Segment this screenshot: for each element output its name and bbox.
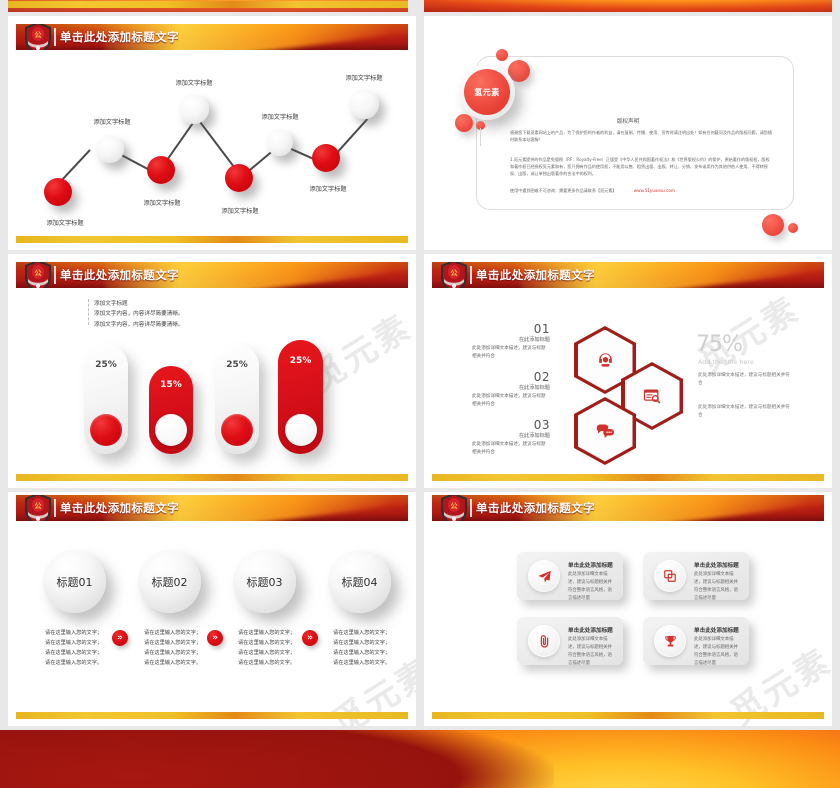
hydrogen-badge: 氢元素 <box>464 69 510 115</box>
card-title: 单击此处添加标题 <box>694 626 739 634</box>
slide-6[interactable]: 公 单击此处添加标题文字 觅元素 单击此处添加标题 此处添加详细文本描述，建议与… <box>424 492 832 726</box>
header-divider <box>54 499 56 517</box>
document-search-icon <box>642 386 662 406</box>
circle-description: 请在这里输入您的文字；请在这里输入您的文字；请在这里输入您的文字；请在这里输入您… <box>238 628 298 669</box>
item-body: 此处添加详细文本描述，建议与标题相关并符合 <box>472 441 550 457</box>
hydrogen-badge-label: 氢元素 <box>474 87 500 98</box>
police-badge-emblem-icon: 公 <box>438 495 470 521</box>
headset-support-icon <box>596 351 615 370</box>
copyright-link[interactable]: www.51yuansu.com <box>634 188 675 193</box>
slide-header-bar: 公 单击此处添加标题文字 <box>432 262 824 288</box>
copyright-title: 版权声明 <box>424 117 832 125</box>
card-body: 此处添加详细文本描述，建议与标题相关并符合整体语言风格，语言描述尽量 <box>568 571 615 603</box>
slide-3-body-1: 添加文字内容，内容详尽简要清晰。 <box>94 309 184 319</box>
paper-plane-icon <box>537 569 552 584</box>
item-body: 此处添加详细文本描述，建议与标题相关并符合 <box>472 345 550 361</box>
slide-header-bar: 公 单击此处添加标题文字 <box>16 262 408 288</box>
slide-4-title: 单击此处添加标题文字 <box>476 267 595 283</box>
pill-value: 15% <box>149 380 193 390</box>
slide-header-bar: 公 单击此处添加标题文字 <box>16 495 408 521</box>
chart-node[interactable] <box>225 164 253 192</box>
slide-thumbnail-grid: 公 单击此处添加标题文字 <box>0 0 840 788</box>
slide-1-title: 单击此处添加标题文字 <box>60 29 179 45</box>
pill-bar[interactable]: 25% <box>215 344 259 454</box>
trophy-icon <box>663 634 678 649</box>
circle-node[interactable]: 标题03 <box>233 550 296 613</box>
layers-copy-icon <box>663 569 677 583</box>
svg-text:公: 公 <box>451 502 458 510</box>
slide-header-bar: 公 单击此处添加标题文字 <box>432 495 824 521</box>
item-subtitle: 在此添加标题 <box>472 384 550 391</box>
numbered-item[interactable]: 01 在此添加标题 此处添加详细文本描述，建议与标题相关并符合 <box>472 322 550 361</box>
numbered-item[interactable]: 03 在此添加标题 此处添加详细文本描述，建议与标题相关并符合 <box>472 418 550 457</box>
card-icon-wrap <box>654 625 686 657</box>
chart-node-label: 添加文字标题 <box>93 117 130 126</box>
card-title: 单击此处添加标题 <box>694 561 739 569</box>
pill-value: 25% <box>278 356 323 366</box>
decor-bubble <box>762 214 784 236</box>
chart-node-label: 添加文字标题 <box>309 184 346 193</box>
police-badge-emblem-icon: 公 <box>22 24 54 50</box>
header-divider <box>54 28 56 46</box>
bottom-banner-gradient <box>0 730 840 788</box>
chart-node[interactable] <box>179 94 209 124</box>
cropped-slide-strip-left <box>8 0 408 12</box>
pill-value: 25% <box>215 360 259 370</box>
pill-knob <box>221 414 253 446</box>
chart-node-label: 添加文字标题 <box>345 73 382 82</box>
gold-strip <box>8 1 408 8</box>
chart-node[interactable] <box>266 129 293 156</box>
chevron-separator-icon: » <box>302 630 318 646</box>
chart-node-label: 添加文字标题 <box>261 112 298 121</box>
circle-node[interactable]: 标题01 <box>43 550 106 613</box>
chart-node[interactable] <box>349 89 379 119</box>
slide-header-bar: 公 单击此处添加标题文字 <box>16 24 408 50</box>
svg-text:公: 公 <box>35 502 42 510</box>
police-badge-emblem-icon: 公 <box>22 495 54 521</box>
circle-description: 请在这里输入您的文字；请在这里输入您的文字；请在这里输入您的文字；请在这里输入您… <box>333 628 393 669</box>
pill-knob <box>285 414 317 446</box>
cropped-slide-strip-right <box>424 0 832 12</box>
copyright-paragraph-2: 1.觅元素提供的作品是免版税（RF：Royalty-Free）正版受《中华人民共… <box>510 156 772 177</box>
hydrogen-badge-ring: 氢元素 <box>459 64 515 120</box>
item-number: 01 <box>472 322 550 336</box>
item-number: 02 <box>472 370 550 384</box>
chart-node-label: 添加文字标题 <box>221 206 258 215</box>
chart-node[interactable] <box>96 135 124 163</box>
slide-3-body-2: 添加文字内容，内容详尽简要清晰。 <box>94 320 184 330</box>
item-body: 此处添加详细文本描述，建议与标题相关并符合 <box>472 393 550 409</box>
stat-subtitle: Add the title here <box>698 358 754 366</box>
card-body: 此处添加详细文本描述，建议与标题相关并符合整体语言风格，语言描述尽量 <box>694 571 741 603</box>
chart-node-label: 添加文字标题 <box>175 78 212 87</box>
svg-text:公: 公 <box>35 31 42 39</box>
stat-body-1: 此处添加详细文本描述，建议与标题相关并符合 <box>698 372 794 388</box>
chat-bubbles-icon <box>595 422 615 440</box>
chart-node-label: 添加文字标题 <box>143 198 180 207</box>
circle-node[interactable]: 标题02 <box>138 550 201 613</box>
chart-node[interactable] <box>147 156 175 184</box>
card-icon-wrap <box>528 560 560 592</box>
slide-2-copyright[interactable]: 氢元素 版权声明 感谢您下载觅素网站上的产品，为了保护您的作者的利益，请在复制、… <box>424 16 832 250</box>
feature-card[interactable]: 单击此处添加标题 此处添加详细文本描述，建议与标题相关并符合整体语言风格，语言描… <box>517 552 623 600</box>
stat-value: 75% <box>696 332 742 357</box>
chart-node-label: 添加文字标题 <box>46 218 83 227</box>
circle-description: 请在这里输入您的文字；请在这里输入您的文字；请在这里输入您的文字；请在这里输入您… <box>45 628 105 669</box>
header-divider <box>470 266 472 284</box>
card-icon-wrap <box>654 560 686 592</box>
copyright-paragraph-1: 感谢您下载觅素网站上的产品，为了保护您的作者的利益，请在复制、传播、使用、宣传时… <box>510 129 772 143</box>
text-accent-bar <box>88 299 89 325</box>
header-divider <box>470 499 472 517</box>
copyright-footer: 使用中遇到困难不可咨询：需要更多作品请联系【觅元素】 www.51yuansu.… <box>510 187 772 194</box>
slide-3-heading: 添加文字标题 <box>94 299 184 309</box>
pill-knob <box>155 414 187 446</box>
chart-node[interactable] <box>44 178 72 206</box>
card-icon-wrap <box>528 625 560 657</box>
slide-3-title: 单击此处添加标题文字 <box>60 267 179 283</box>
slide-4[interactable]: 公 单击此处添加标题文字 觅元素 01 在此添加标题 此处添加详细文本描述，建议… <box>424 254 832 488</box>
slide-5[interactable]: 公 单击此处添加标题文字 觅元素 标题01 标题02 标题03 标题04 请在这… <box>8 492 416 726</box>
svg-text:公: 公 <box>451 269 458 277</box>
pill-bar[interactable]: 25% <box>278 340 323 454</box>
paperclip-icon <box>537 634 552 649</box>
chevron-separator-icon: » <box>207 630 223 646</box>
slide-1[interactable]: 公 单击此处添加标题文字 <box>8 16 416 250</box>
circle-node[interactable]: 标题04 <box>328 550 391 613</box>
chart-node[interactable] <box>312 144 340 172</box>
decor-line <box>480 128 481 146</box>
gold-strip <box>16 474 408 481</box>
pill-value: 25% <box>84 360 128 370</box>
gold-strip <box>16 236 408 243</box>
numbered-item[interactable]: 02 在此添加标题 此处添加详细文本描述，建议与标题相关并符合 <box>472 370 550 409</box>
police-badge-emblem-icon: 公 <box>438 262 470 288</box>
decor-bubble <box>496 49 508 61</box>
feature-card[interactable]: 单击此处添加标题 此处添加详细文本描述，建议与标题相关并符合整体语言风格，语言描… <box>517 617 623 665</box>
gold-strip <box>432 712 824 719</box>
card-body: 此处添加详细文本描述，建议与标题相关并符合整体语言风格，语言描述尽量 <box>694 636 741 668</box>
card-title: 单击此处添加标题 <box>568 626 613 634</box>
chevron-separator-icon: » <box>112 630 128 646</box>
slide-3-text-block: 添加文字标题 添加文字内容，内容详尽简要清晰。 添加文字内容，内容详尽简要清晰。 <box>94 299 184 330</box>
gold-strip <box>16 712 408 719</box>
item-subtitle: 在此添加标题 <box>472 336 550 343</box>
pill-bar[interactable]: 25% <box>84 344 128 454</box>
police-badge-emblem-icon: 公 <box>22 262 54 288</box>
feature-card[interactable]: 单击此处添加标题 此处添加详细文本描述，建议与标题相关并符合整体语言风格，语言描… <box>643 552 749 600</box>
circle-description: 请在这里输入您的文字；请在这里输入您的文字；请在这里输入您的文字；请在这里输入您… <box>144 628 204 669</box>
card-title: 单击此处添加标题 <box>568 561 613 569</box>
card-body: 此处添加详细文本描述，建议与标题相关并符合整体语言风格，语言描述尽量 <box>568 636 615 668</box>
item-number: 03 <box>472 418 550 432</box>
slide-3[interactable]: 公 单击此处添加标题文字 觅元素 添加文字标题 添加文字内容，内容详尽简要清晰。… <box>8 254 416 488</box>
stat-body-2: 此处添加详细文本描述，建议与标题相关并符合 <box>698 404 794 420</box>
decor-bubble <box>788 223 798 233</box>
pill-bar[interactable]: 15% <box>149 366 193 454</box>
feature-card[interactable]: 单击此处添加标题 此处添加详细文本描述，建议与标题相关并符合整体语言风格，语言描… <box>643 617 749 665</box>
header-divider <box>54 266 56 284</box>
banner-gradient <box>424 0 832 12</box>
item-subtitle: 在此添加标题 <box>472 432 550 439</box>
slide-6-title: 单击此处添加标题文字 <box>476 500 595 516</box>
slide-5-title: 单击此处添加标题文字 <box>60 500 179 516</box>
gold-strip <box>432 474 824 481</box>
svg-text:公: 公 <box>35 269 42 277</box>
copyright-footer-text: 使用中遇到困难不可咨询：需要更多作品请联系【觅元素】 <box>510 188 616 193</box>
pill-knob <box>90 414 122 446</box>
